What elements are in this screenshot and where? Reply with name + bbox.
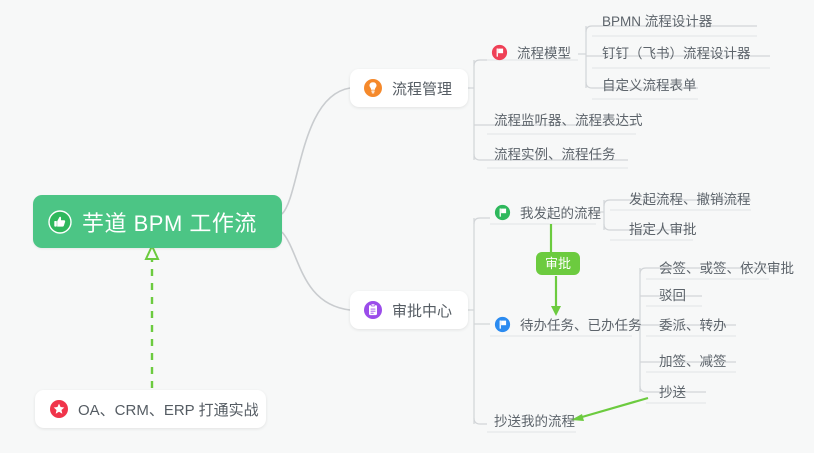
root-label: 芋道 BPM 工作流: [82, 206, 257, 238]
leaf-label-dingtalk-designer: 钉钉（飞书）流程设计器: [602, 42, 751, 62]
leaf-cc[interactable]: 抄送: [655, 381, 694, 406]
mindmap-canvas: 芋道 BPM 工作流 流程管理 流程模型 BPMN 流程设计器 钉钉（飞书）流程: [0, 0, 814, 453]
leaf-label-add-remove-sign: 加签、减签: [659, 350, 727, 370]
lightbulb-icon: [363, 78, 383, 98]
leaf-label-countersign: 会签、或签、依次审批: [659, 257, 794, 277]
thumbs-up-icon: [48, 210, 72, 234]
leaf-assignee-approval[interactable]: 指定人审批: [625, 218, 705, 243]
leaf-label-todo-done-tasks: 待办任务、已办任务: [520, 314, 642, 334]
leaf-custom-form[interactable]: 自定义流程表单: [598, 74, 705, 99]
leaf-label-my-started-process: 我发起的流程: [520, 202, 601, 222]
flag-icon: [491, 44, 508, 61]
leaf-label-process-model: 流程模型: [517, 42, 571, 62]
leaf-reject[interactable]: 驳回: [655, 284, 694, 309]
leaf-process-listener[interactable]: 流程监听器、流程表达式: [490, 109, 651, 134]
leaf-cc-to-me[interactable]: 抄送我的流程: [490, 410, 583, 435]
leaf-label-reject: 驳回: [659, 284, 686, 304]
leaf-label-cc: 抄送: [659, 381, 686, 401]
branch-label-approval-center: 审批中心: [392, 300, 452, 321]
leaf-process-model[interactable]: 流程模型: [487, 42, 579, 67]
leaf-my-started-process[interactable]: 我发起的流程: [490, 202, 609, 227]
approval-annotation-badge: 审批: [536, 252, 580, 275]
leaf-label-process-listener: 流程监听器、流程表达式: [494, 109, 643, 129]
leaf-bpmn-designer[interactable]: BPMN 流程设计器: [598, 10, 720, 35]
leaf-add-remove-sign[interactable]: 加签、减签: [655, 350, 735, 375]
star-icon: [49, 399, 69, 419]
leaf-label-assignee-approval: 指定人审批: [629, 218, 697, 238]
root-node[interactable]: 芋道 BPM 工作流: [33, 195, 282, 248]
flag-icon: [494, 204, 511, 221]
leaf-process-instance[interactable]: 流程实例、流程任务: [490, 143, 624, 168]
leaf-label-process-instance: 流程实例、流程任务: [494, 143, 616, 163]
leaf-label-cc-to-me: 抄送我的流程: [494, 410, 575, 430]
leaf-dingtalk-designer[interactable]: 钉钉（飞书）流程设计器: [598, 42, 759, 67]
branch-node-approval-center[interactable]: 审批中心: [350, 291, 468, 329]
leaf-delegate-transfer[interactable]: 委派、转办: [655, 314, 735, 339]
branch-node-process-management[interactable]: 流程管理: [350, 69, 468, 107]
leaf-label-bpmn-designer: BPMN 流程设计器: [602, 10, 712, 30]
clipboard-icon: [363, 300, 383, 320]
integration-dashed-arrow: [146, 246, 158, 388]
flag-icon: [494, 316, 511, 333]
leaf-label-delegate-transfer: 委派、转办: [659, 314, 727, 334]
integration-callout-node[interactable]: OA、CRM、ERP 打通实战: [35, 390, 266, 428]
leaf-countersign[interactable]: 会签、或签、依次审批: [655, 257, 802, 282]
branch-label-process-management: 流程管理: [392, 78, 452, 99]
leaf-label-custom-form: 自定义流程表单: [602, 74, 697, 94]
leaf-label-start-cancel-process: 发起流程、撤销流程: [629, 188, 751, 208]
integration-callout-label: OA、CRM、ERP 打通实战: [78, 399, 259, 420]
leaf-start-cancel-process[interactable]: 发起流程、撤销流程: [625, 188, 759, 213]
leaf-todo-done-tasks[interactable]: 待办任务、已办任务: [490, 314, 650, 339]
